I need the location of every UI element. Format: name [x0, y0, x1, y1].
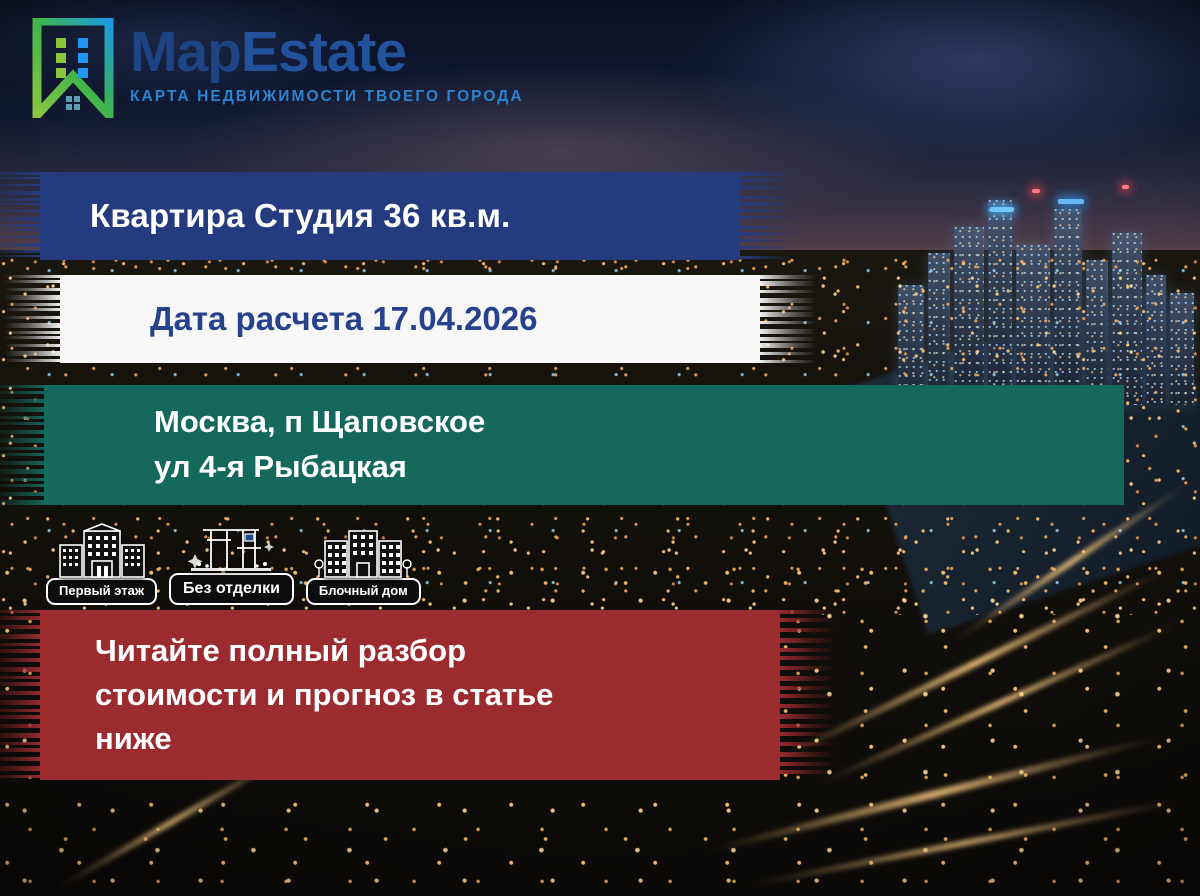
brand-name: MapEstate: [130, 24, 524, 81]
badge-first-floor[interactable]: Первый этаж: [46, 523, 157, 605]
address-banner: Москва, п Щаповское ул 4-я Рыбацкая: [44, 385, 1124, 505]
cta-banner-left-brush-edge: [0, 610, 42, 780]
cta-line-2: стоимости и прогноз в статье: [95, 673, 780, 717]
bookmark-building-icon: [32, 18, 114, 118]
property-title-banner: Квартира Студия 36 кв.м.: [40, 172, 740, 260]
feature-badges: Первый этаж Без отделки: [46, 518, 421, 605]
calculation-date-banner: Дата расчета 17.04.2026: [60, 275, 760, 363]
cta-banner-right-brush-edge: [778, 610, 836, 780]
panel-apartment-building-icon: [313, 523, 413, 585]
title-banner-left-brush-edge: [0, 172, 42, 260]
brand-tagline: КАРТА НЕДВИЖИМОСТИ ТВОЕГО ГОРОДА: [130, 88, 524, 106]
classical-building-icon: [54, 523, 150, 585]
poster-canvas: MapEstate КАРТА НЕДВИЖИМОСТИ ТВОЕГО ГОРО…: [0, 0, 1200, 896]
brand-text: MapEstate КАРТА НЕДВИЖИМОСТИ ТВОЕГО ГОРО…: [130, 18, 524, 106]
badge-no-finishing[interactable]: Без отделки: [169, 518, 294, 605]
property-title-text: Квартира Студия 36 кв.м.: [40, 197, 740, 235]
title-banner-right-brush-edge: [738, 172, 796, 260]
address-text: Москва, п Щаповское ул 4-я Рыбацкая: [44, 400, 1124, 490]
address-banner-left-brush-edge: [0, 385, 46, 505]
address-line-city: Москва, п Щаповское: [154, 400, 1124, 445]
unfinished-interior-icon: [181, 518, 281, 580]
brand-logo[interactable]: MapEstate КАРТА НЕДВИЖИМОСТИ ТВОЕГО ГОРО…: [32, 18, 524, 118]
badge-block-house[interactable]: Блочный дом: [306, 523, 421, 605]
cta-line-3: ниже: [95, 717, 780, 761]
cta-line-1: Читайте полный разбор: [95, 629, 780, 673]
date-banner-right-brush-edge: [758, 275, 816, 363]
cta-text: Читайте полный разбор стоимости и прогно…: [40, 629, 780, 761]
brand-name-map: Map: [130, 20, 241, 84]
address-line-street: ул 4-я Рыбацкая: [154, 445, 1124, 490]
calculation-date-text: Дата расчета 17.04.2026: [60, 300, 760, 338]
brand-name-estate: Estate: [241, 20, 406, 84]
cta-banner[interactable]: Читайте полный разбор стоимости и прогно…: [40, 610, 780, 780]
date-banner-left-brush-edge: [4, 275, 62, 363]
